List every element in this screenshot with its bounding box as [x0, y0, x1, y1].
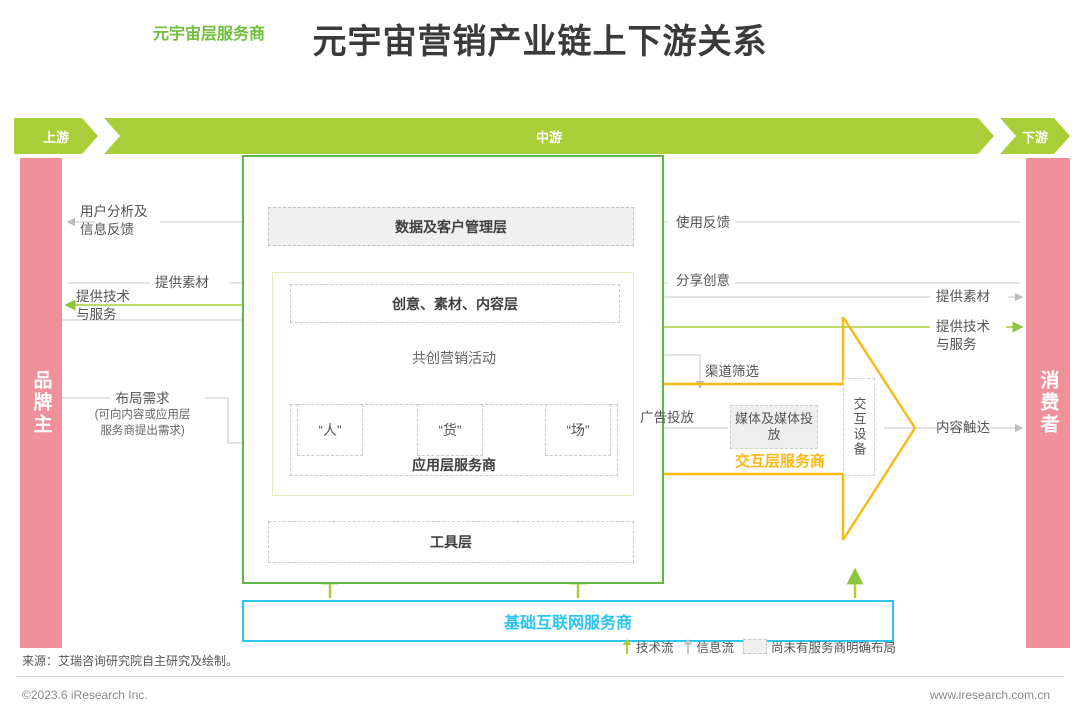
label-provide-tech-right-l1: 提供技术	[936, 318, 990, 336]
goods-box: “货”	[417, 404, 483, 456]
info-flow-arrow-icon	[683, 639, 693, 654]
band-downstream: 下游	[1000, 118, 1070, 154]
legend: 技术流 信息流 尚未有服务商明确布局	[622, 637, 896, 656]
tech-flow-arrow-icon	[622, 639, 632, 654]
label-user-analysis: 用户分析及 信息反馈	[80, 203, 148, 239]
band-upstream-label: 上游	[43, 127, 69, 146]
stage-band: 上游 中游 下游	[14, 118, 1070, 154]
creative-material-content-layer: 创意、素材、内容层	[290, 284, 620, 323]
label-provide-tech-left-l2: 与服务	[76, 306, 130, 324]
label-layout-demand-title: 布局需求	[75, 390, 210, 408]
cocreate-marketing-label: 共创营销活动	[290, 348, 618, 368]
label-content-reach: 内容触达	[936, 419, 990, 437]
diagram-canvas: 元宇宙营销产业链上下游关系 上游 中游 下游 品牌主 消费者	[0, 0, 1080, 715]
label-usage-feedback: 使用反馈	[676, 214, 730, 232]
label-provide-tech-right: 提供技术 与服务	[936, 318, 990, 354]
label-user-analysis-l1: 用户分析及	[80, 203, 148, 221]
label-provide-material-left: 提供素材	[155, 274, 209, 292]
data-customer-management-layer: 数据及客户管理层	[268, 207, 634, 246]
scene-box: “场”	[545, 404, 611, 456]
label-ad-delivery: 广告投放	[640, 409, 694, 427]
band-midstream: 中游	[104, 118, 994, 154]
metaverse-layer-title: 元宇宙层服务商	[0, 20, 418, 44]
interaction-device-box: 交互设备	[843, 378, 875, 476]
application-layer-label: 应用层服务商	[290, 455, 618, 475]
interaction-device-label: 交互设备	[850, 397, 869, 457]
media-delivery-box: 媒体及媒体投放	[730, 405, 818, 449]
label-provide-tech-left-l1: 提供技术	[76, 288, 130, 306]
pillar-brand-owner: 品牌主	[20, 158, 62, 648]
interaction-layer-title: 交互层服务商	[700, 450, 860, 471]
label-user-analysis-l2: 信息反馈	[80, 221, 148, 239]
legend-no-provider: 尚未有服务商明确布局	[743, 637, 896, 656]
pillar-consumer-label: 消费者	[1035, 370, 1062, 436]
label-share-idea: 分享创意	[676, 272, 730, 290]
label-provide-tech-left: 提供技术 与服务	[76, 288, 130, 324]
copyright: ©2023.6 iResearch Inc.	[22, 688, 148, 702]
label-provide-material-right: 提供素材	[936, 288, 990, 306]
label-channel-filter: 渠道筛选	[705, 363, 759, 381]
band-downstream-label: 下游	[1022, 127, 1048, 146]
legend-info-flow-label: 信息流	[697, 637, 735, 656]
dashed-box-icon	[743, 639, 767, 654]
legend-tech-flow-label: 技术流	[636, 637, 674, 656]
label-provide-tech-right-l2: 与服务	[936, 336, 990, 354]
website-url: www.iresearch.com.cn	[930, 688, 1050, 702]
legend-tech-flow: 技术流	[622, 637, 674, 656]
legend-info-flow: 信息流	[683, 637, 735, 656]
label-layout-demand: 布局需求 (可向内容或应用层 服务商提出需求)	[75, 390, 210, 439]
pillar-consumer: 消费者	[1026, 158, 1070, 648]
basic-internet-provider-box: 基础互联网服务商	[242, 600, 894, 642]
people-box: “人”	[297, 404, 363, 456]
tool-layer-box: 工具层	[268, 521, 634, 563]
label-layout-demand-sub2: 服务商提出需求)	[75, 424, 210, 440]
legend-no-provider-label: 尚未有服务商明确布局	[771, 637, 896, 656]
pillar-brand-owner-label: 品牌主	[28, 370, 55, 436]
band-midstream-label: 中游	[536, 127, 562, 146]
label-layout-demand-sub1: (可向内容或应用层	[75, 408, 210, 424]
source-note: 来源：艾瑞咨询研究院自主研究及绘制。	[22, 652, 238, 669]
band-upstream: 上游	[14, 118, 98, 154]
footer-divider	[16, 676, 1064, 677]
